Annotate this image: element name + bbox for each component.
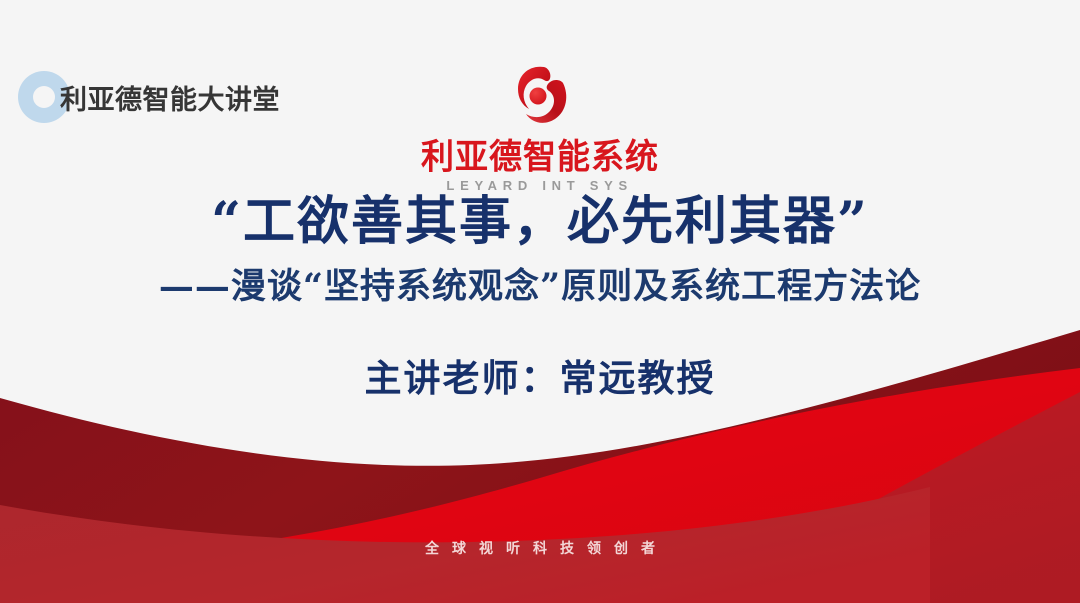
footer-tagline: 全球视听科技领创者 bbox=[0, 538, 1080, 558]
speaker-line: 主讲老师：常远教授 bbox=[0, 348, 1080, 402]
sub-title: ——漫谈“坚持系统观念”原则及系统工程方法论 bbox=[0, 266, 1080, 308]
brand-name-cn: 利亚德智能系统 bbox=[421, 129, 659, 179]
wave-bright-front bbox=[0, 368, 1080, 603]
main-title: “工欲善其事，必先利其器” bbox=[0, 192, 1080, 252]
channel-badge-label: 利亚德智能大讲堂 bbox=[60, 78, 280, 117]
leyard-swirl-logo-icon bbox=[503, 62, 577, 132]
headline-group: “工欲善其事，必先利其器” ——漫谈“坚持系统观念”原则及系统工程方法论 主讲老… bbox=[0, 192, 1080, 402]
wave-diagonal-sheen bbox=[700, 392, 1080, 603]
title-slide: 利亚德智能大讲堂 bbox=[0, 0, 1080, 603]
